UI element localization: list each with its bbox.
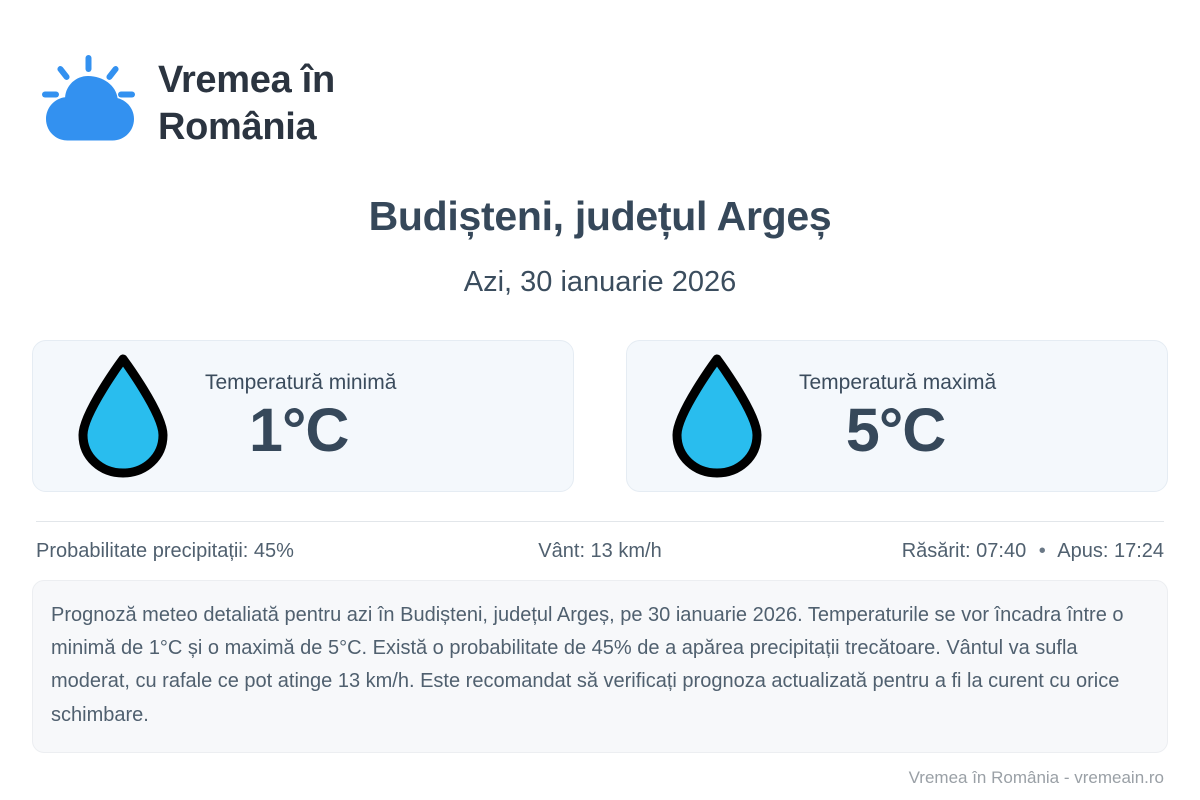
card-temperature-max: Temperatură maximă 5°C [626,340,1168,492]
stat-sun-times: Răsărit: 07:40 • Apus: 17:24 [788,540,1164,563]
forecast-description-text: Prognoză meteo detaliată pentru azi în B… [51,599,1141,732]
weather-page: Vremea în România Budișteni, județul Arg… [0,0,1200,800]
stat-wind: Vânt: 13 km/h [412,540,788,563]
forecast-description-box: Prognoză meteo detaliată pentru azi în B… [32,580,1168,753]
water-droplet-icon [669,353,765,479]
sun-behind-cloud-icon [36,52,140,156]
divider [36,521,1164,522]
stats-row: Probabilitate precipitații: 45% Vânt: 13… [36,540,1164,563]
stat-sunrise: Răsărit: 07:40 [902,540,1027,562]
card-text: Temperatură minimă 1°C [201,368,396,463]
page-title: Budișteni, județul Argeș [0,193,1200,240]
footer-credit: Vremea în România - vremeain.ro [909,768,1164,788]
card-text: Temperatură maximă 5°C [795,368,996,463]
stat-precipitation: Probabilitate precipitații: 45% [36,540,412,563]
temperature-cards: Temperatură minimă 1°C Temperatură maxim… [32,340,1168,492]
stat-separator: • [1039,540,1046,562]
card-label: Temperatură minimă [205,370,396,395]
water-droplet-icon [75,353,171,479]
card-value: 5°C [846,398,945,464]
brand-header[interactable]: Vremea în România [36,52,335,156]
card-temperature-min: Temperatură minimă 1°C [32,340,574,492]
page-subtitle: Azi, 30 ianuarie 2026 [0,266,1200,299]
card-label: Temperatură maximă [799,370,996,395]
stat-sunset: Apus: 17:24 [1057,540,1164,562]
brand-name: Vremea în România [158,57,335,151]
card-value: 1°C [249,398,348,464]
